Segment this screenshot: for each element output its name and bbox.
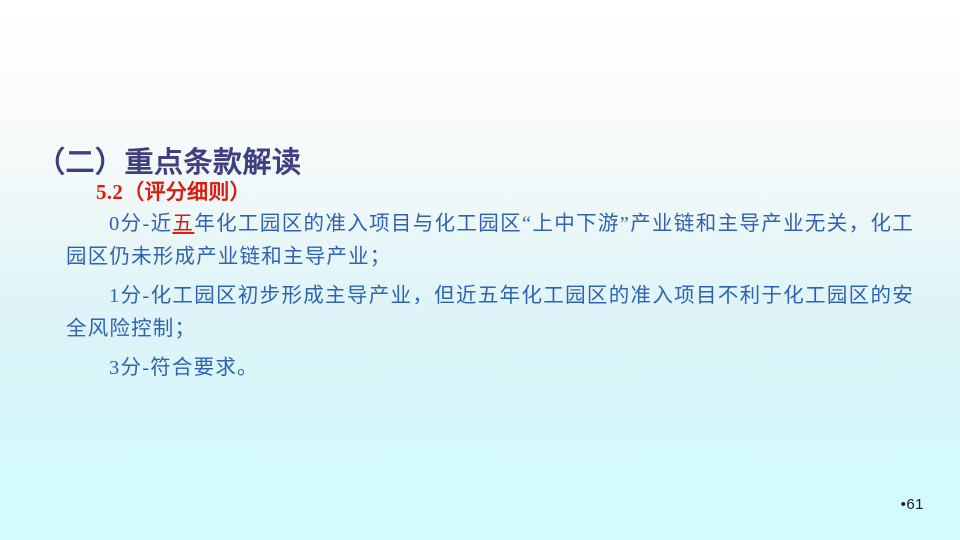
- criteria-item-1: 1分-化工园区初步形成主导产业，但近五年化工园区的准入项目不利于化工园区的安全风…: [66, 280, 914, 346]
- section-heading: 5.2（评分细则）: [96, 176, 251, 206]
- page-number: •61: [901, 496, 924, 513]
- criteria-text-before-0: 近: [151, 213, 173, 235]
- criteria-score-label-0: 0分-: [109, 213, 150, 235]
- criteria-highlight-0: 五: [173, 213, 195, 235]
- criteria-item-2: 3分-符合要求。: [66, 352, 914, 385]
- slide-canvas: （二）重点条款解读 5.2（评分细则） 0分-近五年化工园区的准入项目与化工园区…: [0, 0, 960, 540]
- criteria-score-label-2: 3分-: [109, 357, 150, 379]
- criteria-text-2: 符合要求。: [150, 357, 259, 379]
- criteria-item-0: 0分-近五年化工园区的准入项目与化工园区“上中下游”产业链和主导产业无关，化工园…: [66, 208, 914, 274]
- criteria-list: 0分-近五年化工园区的准入项目与化工园区“上中下游”产业链和主导产业无关，化工园…: [66, 208, 914, 385]
- criteria-text-after-0: 年化工园区的准入项目与化工园区“上中下游”产业链和主导产业无关，化工园区仍未形成…: [66, 213, 914, 268]
- criteria-score-label-1: 1分-: [109, 285, 150, 307]
- criteria-text-1: 化工园区初步形成主导产业，但近五年化工园区的准入项目不利于化工园区的安全风险控制…: [66, 285, 914, 340]
